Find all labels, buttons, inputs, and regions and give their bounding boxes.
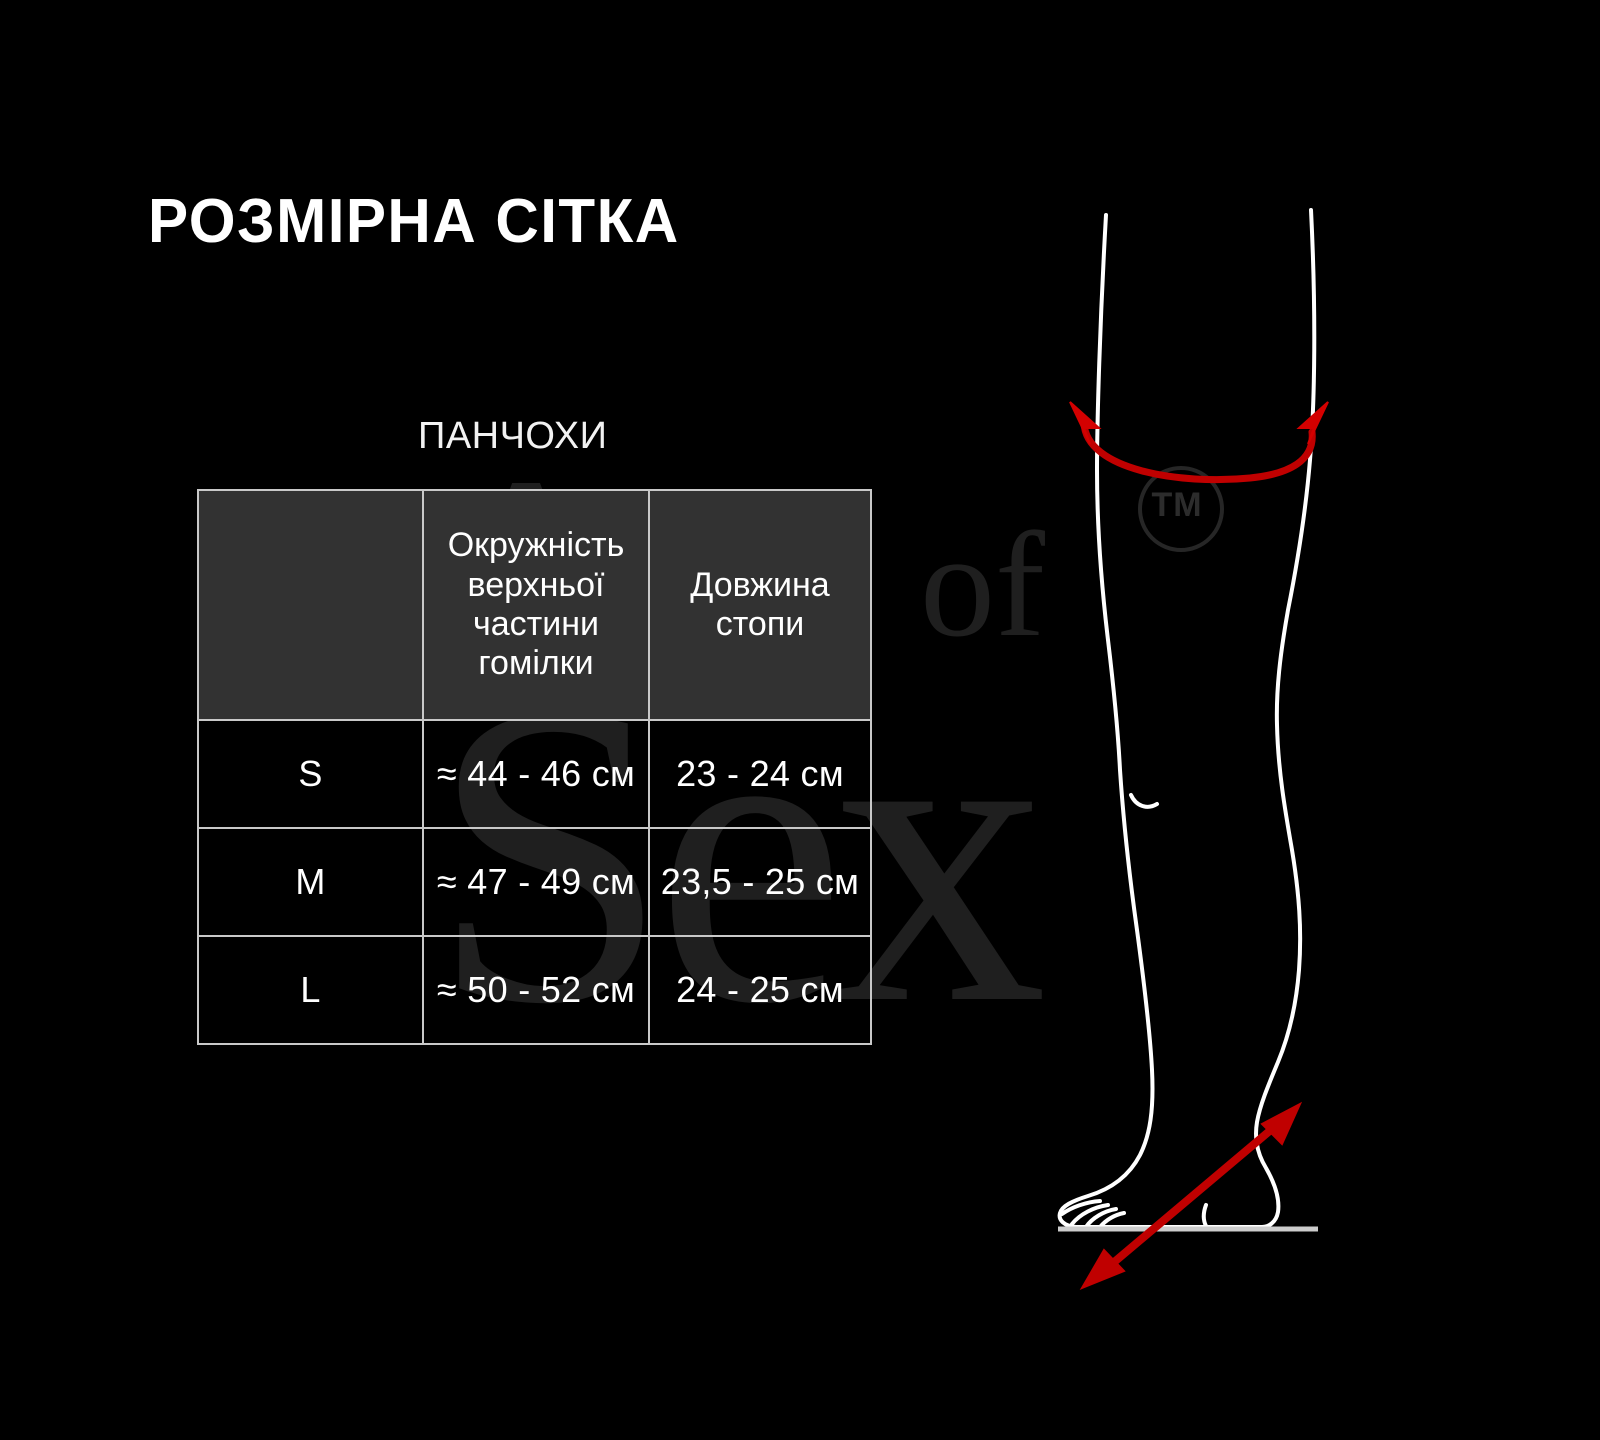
page-title: РОЗМІРНА СІТКА (148, 186, 680, 257)
cell-circumference: ≈ 47 - 49 см (423, 828, 649, 936)
toe-line-4 (1100, 1213, 1124, 1227)
cell-size: L (198, 936, 423, 1044)
ankle-detail (1204, 1205, 1206, 1226)
cell-foot-length: 23 - 24 см (649, 720, 871, 828)
cell-size: M (198, 828, 423, 936)
table-body: S ≈ 44 - 46 см 23 - 24 см M ≈ 47 - 49 см… (198, 720, 871, 1044)
section-caption: ПАНЧОХИ (418, 415, 607, 458)
table-row: S ≈ 44 - 46 см 23 - 24 см (198, 720, 871, 828)
leg-outline-front (1060, 215, 1262, 1227)
table-header-row: Окружність верхньої частини гомілки Довж… (198, 490, 871, 720)
knee-detail (1131, 795, 1157, 807)
leg-illustration (1000, 170, 1420, 1330)
cell-foot-length: 24 - 25 см (649, 936, 871, 1044)
leg-outline-back (1256, 210, 1314, 1227)
table-header: Окружність верхньої частини гомілки Довж… (198, 490, 871, 720)
cell-foot-length: 23,5 - 25 см (649, 828, 871, 936)
cell-circumference: ≈ 50 - 52 см (423, 936, 649, 1044)
foot-length-measure (1082, 1104, 1300, 1288)
size-chart-table: Окружність верхньої частини гомілки Довж… (197, 489, 872, 1045)
table-row: L ≈ 50 - 52 см 24 - 25 см (198, 936, 871, 1044)
size-chart-page: Art of Sex TM РОЗМІРНА СІТКА ПАНЧОХИ Окр… (0, 0, 1600, 1440)
header-cell-size (198, 490, 423, 720)
header-cell-circumference: Окружність верхньої частини гомілки (423, 490, 649, 720)
thigh-circumference-measure (1070, 402, 1328, 480)
cell-size: S (198, 720, 423, 828)
table-row: M ≈ 47 - 49 см 23,5 - 25 см (198, 828, 871, 936)
cell-circumference: ≈ 44 - 46 см (423, 720, 649, 828)
header-cell-foot-length: Довжина стопи (649, 490, 871, 720)
